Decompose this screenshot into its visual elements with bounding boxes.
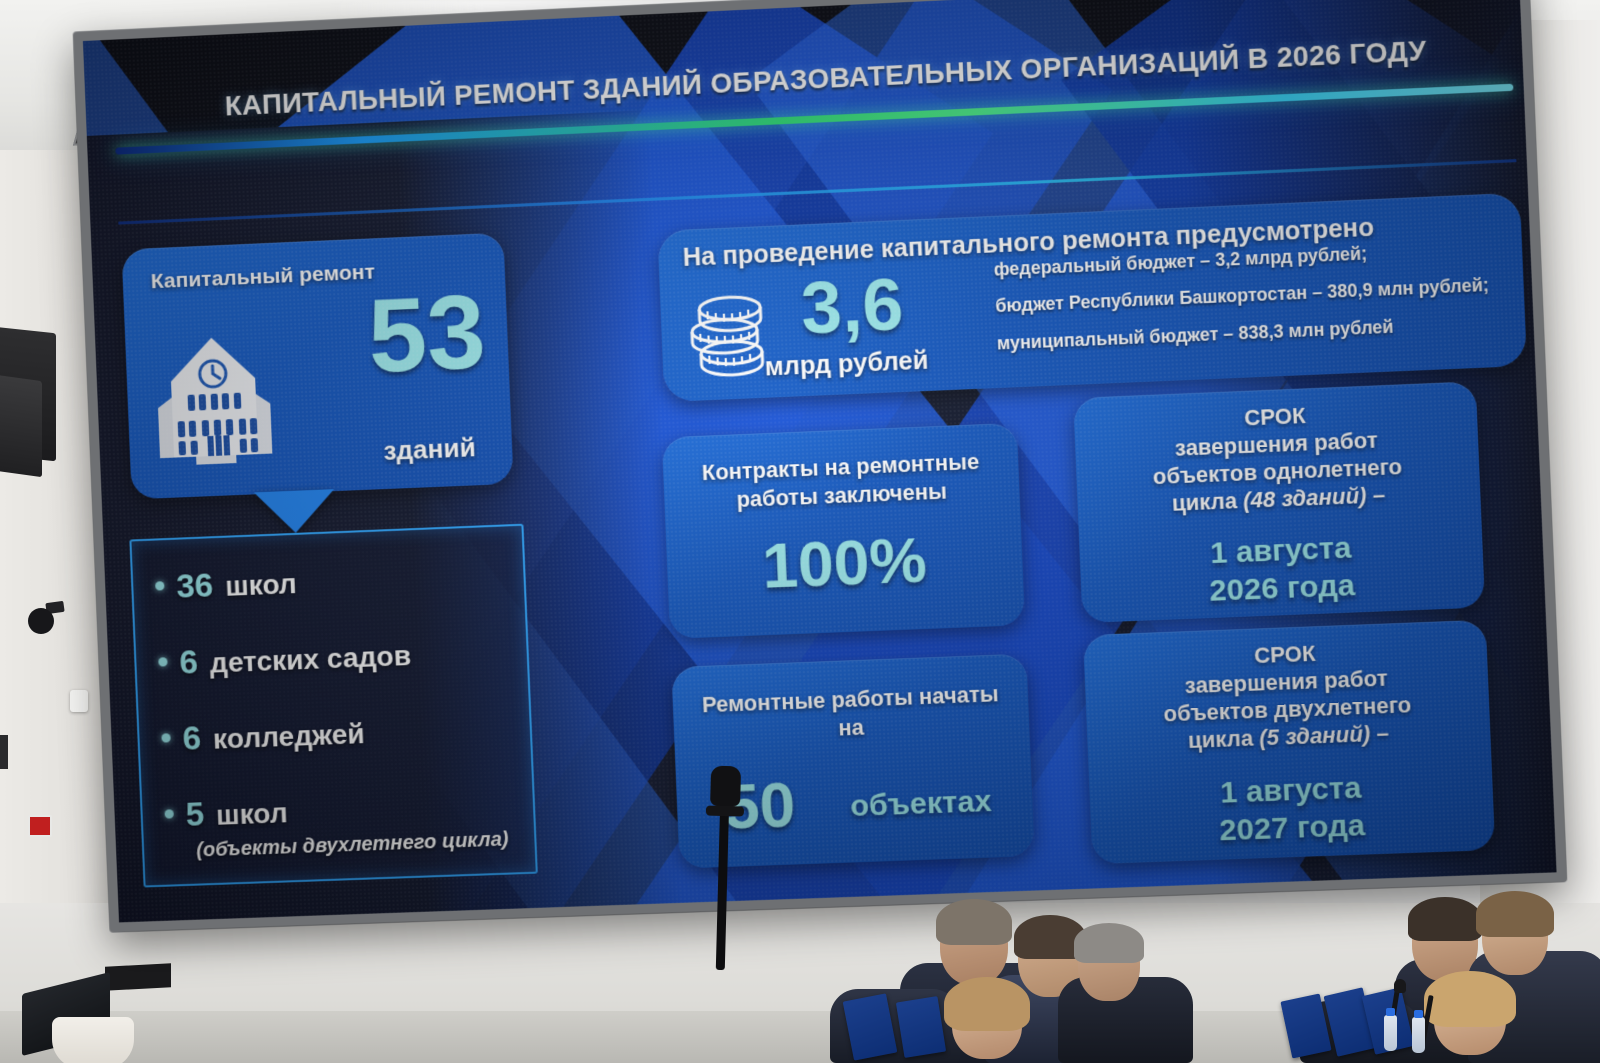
presentation-slide: КАПИТАЛЬНЫЙ РЕМОНТ ЗДАНИЙ ОБРАЗОВАТЕЛЬНЫ… bbox=[83, 0, 1557, 922]
deadline-card-heading: СРОК завершения работ объектов двухлетне… bbox=[1094, 634, 1481, 758]
bullet-dot-icon bbox=[155, 581, 164, 590]
wall-plate bbox=[105, 963, 171, 990]
repair-summary-card: Капитальный ремонт bbox=[121, 233, 513, 500]
wall-sensor-icon bbox=[70, 690, 88, 712]
breakdown-list: 36 школ 6 детских садов 6 колледжей 5 шк… bbox=[129, 524, 537, 888]
list-item: 6 колледжей bbox=[161, 713, 365, 759]
deadline-line-3-prefix: цикла bbox=[1172, 489, 1244, 516]
deadline-line-3-suffix: – bbox=[1370, 721, 1390, 746]
works-started-heading: Ремонтные работы начаты на bbox=[687, 680, 1016, 749]
list-item-label: школ bbox=[225, 568, 298, 603]
fire-alarm-icon bbox=[28, 815, 52, 837]
deadline-line-3-count: (48 зданий) bbox=[1243, 484, 1367, 513]
list-footnote: (объекты двухлетнего цикла) bbox=[196, 828, 509, 862]
budget-card: На проведение капитального ремонта преду… bbox=[657, 193, 1527, 402]
deadline-line-3-count: (5 зданий) bbox=[1259, 722, 1371, 750]
budget-amount-unit: млрд рублей bbox=[764, 346, 929, 382]
deadline-title: СРОК bbox=[1244, 404, 1306, 431]
led-wall-frame: КАПИТАЛЬНЫЙ РЕМОНТ ЗДАНИЙ ОБРАЗОВАТЕЛЬНЫ… bbox=[74, 0, 1567, 932]
budget-amount-value: 3,6 bbox=[800, 269, 905, 346]
school-building-icon bbox=[147, 331, 281, 469]
deadline-title: СРОК bbox=[1254, 642, 1316, 669]
list-item: 5 школ bbox=[164, 792, 288, 835]
wall-camera-icon bbox=[24, 600, 64, 634]
list-item-count: 5 bbox=[185, 795, 205, 834]
repair-count-value: 53 bbox=[366, 280, 487, 389]
deadline-card-one-year: СРОК завершения работ объектов однолетне… bbox=[1073, 381, 1485, 623]
wall-speaker-icon bbox=[0, 375, 42, 477]
list-item-count: 6 bbox=[182, 719, 202, 758]
budget-source-list: федеральный бюджет – 3,2 млрд рублей; бю… bbox=[993, 236, 1513, 369]
bullet-dot-icon bbox=[165, 809, 174, 818]
budget-source-item: бюджет Республики Башкортостан – 380,9 м… bbox=[995, 273, 1512, 319]
deadline-line-3-suffix: – bbox=[1366, 483, 1386, 508]
bullet-dot-icon bbox=[161, 733, 170, 742]
list-item-count: 36 bbox=[176, 566, 214, 605]
deadline-line-3-prefix: цикла bbox=[1188, 726, 1260, 753]
list-item: 36 школ bbox=[155, 563, 298, 607]
list-item-label: школ bbox=[216, 797, 289, 832]
list-item: 6 детских садов bbox=[158, 635, 412, 683]
wall-slot bbox=[0, 735, 8, 769]
contracts-card: Контракты на ремонтные работы заключены … bbox=[662, 423, 1025, 639]
list-item-label: детских садов bbox=[209, 640, 411, 680]
budget-source-item: муниципальный бюджет – 838,3 млн рублей bbox=[996, 310, 1513, 356]
connector-arrow-icon bbox=[254, 489, 336, 534]
list-item-label: колледжей bbox=[212, 718, 365, 756]
conference-room-photo: КАПИТАЛЬНЫЙ РЕМОНТ ЗДАНИЙ ОБРАЗОВАТЕЛЬНЫ… bbox=[0, 0, 1600, 1063]
contracts-card-heading: Контракты на ремонтные работы заключены bbox=[677, 448, 1006, 518]
list-item-count: 6 bbox=[179, 643, 199, 682]
contracts-percent-value: 100% bbox=[666, 520, 1024, 607]
deadline-card-heading: СРОК завершения работ объектов однолетне… bbox=[1084, 396, 1470, 522]
repair-count-unit: зданий bbox=[383, 432, 477, 467]
deadline-line-1: завершения работ bbox=[1184, 666, 1388, 698]
deadline-card-two-year: СРОК завершения работ объектов двухлетне… bbox=[1083, 620, 1495, 864]
repair-card-label: Капитальный ремонт bbox=[150, 260, 375, 294]
works-started-unit: объектах bbox=[850, 785, 993, 824]
bullet-dot-icon bbox=[158, 657, 167, 666]
